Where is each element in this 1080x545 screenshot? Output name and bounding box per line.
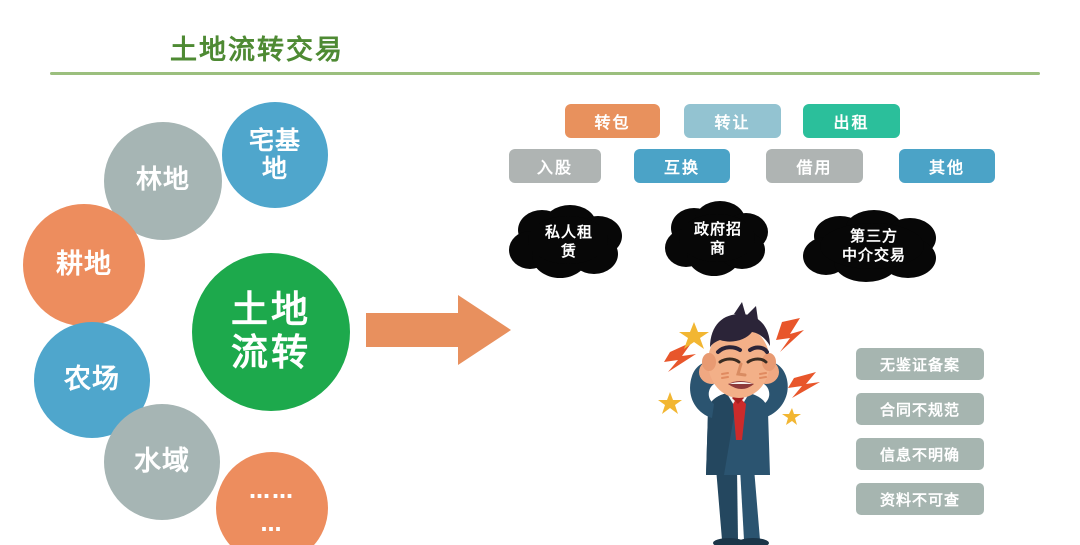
chip-exchange[interactable]: 互换: [634, 149, 730, 183]
issue-no-certification[interactable]: 无鉴证备案: [856, 348, 984, 380]
bubble-more[interactable]: …… …: [216, 452, 328, 545]
cloud-label: 政府招 商: [662, 200, 774, 278]
stressed-businessman-illustration: [634, 300, 844, 545]
chip-label: 转包: [594, 109, 630, 133]
bubble-water-area[interactable]: 水域: [104, 404, 220, 520]
chip-label: 转让: [714, 109, 750, 133]
chip-label: 互换: [664, 154, 700, 178]
chip-subcontract[interactable]: 转包: [565, 104, 660, 138]
cloud-label: 第三方 中介交易: [800, 210, 948, 282]
cloud-third-party-agency[interactable]: 第三方 中介交易: [800, 210, 948, 282]
core-label: 土地 流转: [231, 289, 311, 374]
star-icon: [658, 392, 682, 414]
chip-borrowing[interactable]: 借用: [766, 149, 863, 183]
page-title: 土地流转交易: [170, 28, 344, 67]
title-divider: [50, 72, 1040, 75]
bubble-land-transfer-core[interactable]: 土地 流转: [192, 253, 350, 411]
chip-label: 借用: [796, 154, 832, 178]
issue-label: 资料不可查: [880, 489, 960, 510]
chip-label: 出租: [833, 109, 869, 133]
bubble-label: …… …: [249, 475, 295, 540]
bubble-label: 水域: [134, 447, 190, 477]
bubble-homestead[interactable]: 宅基 地: [222, 102, 328, 208]
issue-nonstandard-contract[interactable]: 合同不规范: [856, 393, 984, 425]
bubble-label: 宅基 地: [249, 127, 301, 183]
lightning-bolt-icon: [788, 372, 820, 398]
bubble-label: 农场: [64, 365, 120, 395]
bubble-label: 耕地: [56, 250, 112, 280]
lightning-bolt-icon: [664, 342, 696, 372]
bubble-label: 林地: [136, 166, 190, 195]
chip-lease[interactable]: 出租: [803, 104, 900, 138]
cloud-label: 私人租 赁: [508, 204, 630, 280]
issue-label: 信息不明确: [880, 444, 960, 465]
cloud-government-investment[interactable]: 政府招 商: [662, 200, 774, 278]
chip-assignment[interactable]: 转让: [684, 104, 781, 138]
chip-label: 入股: [537, 154, 573, 178]
issue-label: 合同不规范: [880, 399, 960, 420]
star-icon: [782, 408, 801, 425]
chip-other[interactable]: 其他: [899, 149, 995, 183]
right-arrow-icon: [366, 295, 511, 365]
lightning-bolt-icon: [776, 318, 804, 352]
chip-shareholding[interactable]: 入股: [509, 149, 601, 183]
issue-label: 无鉴证备案: [880, 354, 960, 375]
cloud-private-lease[interactable]: 私人租 赁: [508, 204, 630, 280]
issue-unverifiable-records[interactable]: 资料不可查: [856, 483, 984, 515]
star-icon: [679, 322, 709, 349]
chip-label: 其他: [929, 154, 965, 178]
slide-canvas: 土地流转交易 林地 宅基 地 耕地 农场 水域 …… … 土地 流转: [0, 0, 1080, 545]
issue-unclear-information[interactable]: 信息不明确: [856, 438, 984, 470]
bubble-farmland[interactable]: 耕地: [23, 204, 145, 326]
